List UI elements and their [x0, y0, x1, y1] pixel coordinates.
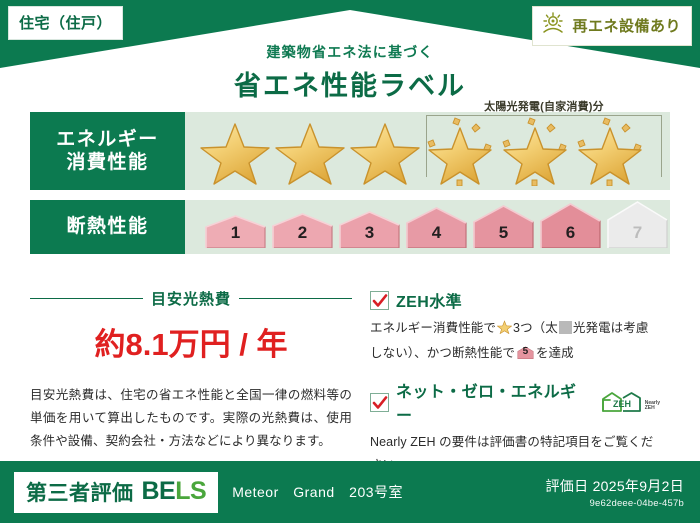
insulation-scale: 1 2 3 [185, 200, 670, 254]
insulation-level-house: 5 [471, 204, 536, 248]
insulation-level-number: 5 [471, 223, 536, 243]
utility-cost-value: 約8.1万円 / 年 [30, 319, 352, 364]
solar-sun-icon [541, 12, 565, 39]
page-title: 省エネ性能ラベル [0, 64, 700, 103]
lower-content: 目安光熱費 約8.1万円 / 年 目安光熱費は、住宅の省エネ性能と全国一律の燃料… [30, 288, 670, 490]
renewable-equipment-badge: 再エネ設備あり [532, 6, 692, 46]
bels-text-part2: LS [175, 477, 206, 505]
star-filled [274, 114, 346, 186]
zeh-standard-block: ZEH水準 エネルギー消費性能で3つ（太光発電は考慮しない）、かつ断熱性能で5を… [370, 288, 660, 364]
bels-logo: 第三者評価 BELS [14, 472, 218, 513]
zeh-body-part1: エネルギー消費性能で [370, 321, 496, 335]
inline-house-number: 5 [517, 343, 534, 361]
energy-row-label: エネルギー 消費性能 [30, 112, 185, 190]
insulation-row: 断熱性能 1 [30, 200, 670, 254]
insulation-row-body: 1 2 3 [185, 200, 670, 254]
insulation-level-number: 6 [538, 223, 603, 243]
zeh-standard-title: ZEH水準 [396, 288, 462, 312]
insulation-row-label: 断熱性能 [30, 200, 185, 254]
star-rating [185, 114, 670, 190]
insulation-level-house: 4 [404, 206, 469, 248]
star-filled [349, 114, 421, 186]
utility-cost-note: 目安光熱費は、住宅の省エネ性能と全国一律の燃料等の単価を用いて算出したものです。… [30, 384, 352, 453]
utility-cost-column: 目安光熱費 約8.1万円 / 年 目安光熱費は、住宅の省エネ性能と全国一律の燃料… [30, 288, 362, 490]
insulation-level-number: 2 [270, 223, 335, 243]
star-icon-inline [497, 323, 512, 337]
bels-english-label: BELS [142, 477, 207, 506]
star-filled-sparkle [499, 114, 571, 186]
insulation-label-line1: 断熱性能 [66, 215, 148, 238]
energy-performance-label: 住宅（住戸） 再エネ設備あり 建築物省エネ法に基づく [0, 0, 700, 523]
net-zero-energy-heading: ネット・ゼロ・エネルギー ZEH Nearly ZEH [370, 378, 660, 426]
criteria-column: ZEH水準 エネルギー消費性能で3つ（太光発電は考慮しない）、かつ断熱性能で5を… [362, 288, 660, 490]
rule-right [239, 298, 352, 299]
insulation-level-house: 6 [538, 202, 603, 248]
utility-cost-heading-label: 目安光熱費 [151, 288, 231, 309]
zeh-standard-heading: ZEH水準 [370, 288, 660, 312]
zeh-standard-body: エネルギー消費性能で3つ（太光発電は考慮しない）、かつ断熱性能で5を達成 [370, 317, 660, 364]
bels-japanese-label: 第三者評価 [26, 477, 134, 507]
net-zero-energy-title: ネット・ゼロ・エネルギー [396, 378, 588, 426]
star-filled-sparkle [424, 114, 496, 186]
insulation-level-house: 2 [270, 212, 335, 248]
zeh-house-logo: ZEH Nearly ZEH [600, 391, 660, 413]
insulation-level-house-inactive: 7 [605, 200, 670, 248]
zeh-logo-subtext: Nearly ZEH [645, 401, 660, 414]
insulation-level-icon-inline: 5 [517, 344, 534, 361]
insulation-level-number: 3 [337, 223, 402, 243]
housing-type-tag: 住宅（住戸） [8, 6, 123, 40]
star-filled-sparkle [574, 114, 646, 186]
energy-consumption-row: エネルギー 消費性能 太陽光発電(自家消費)分 [30, 112, 670, 190]
insulation-level-house: 1 [203, 214, 268, 248]
zeh-body-part4: を達成 [536, 346, 574, 360]
energy-row-body: 太陽光発電(自家消費)分 [185, 112, 670, 190]
label-title-block: 建築物省エネ法に基づく 省エネ性能ラベル [0, 42, 700, 103]
energy-label-line2: 消費性能 [66, 151, 148, 174]
insulation-level-number: 4 [404, 223, 469, 243]
renewable-badge-label: 再エネ設備あり [572, 15, 681, 36]
zeh-logo-sub-line2: ZEH [645, 405, 655, 411]
svg-text:ZEH: ZEH [613, 399, 631, 409]
evaluation-date: 評価日 2025年9月2日 [545, 476, 684, 496]
utility-cost-heading: 目安光熱費 [30, 288, 352, 309]
star-filled [199, 114, 271, 186]
bels-text-part1: BE [142, 477, 176, 505]
zeh-body-star-count: 3つ [513, 321, 533, 335]
evaluation-id: 9e62deee-04be-457b [545, 498, 684, 509]
redaction-block [559, 321, 572, 334]
checkmark-icon [370, 393, 389, 412]
rule-left [30, 298, 143, 299]
zeh-body-part2: （太 [533, 321, 558, 335]
footer-meta: 評価日 2025年9月2日 9e62deee-04be-457b [545, 476, 684, 509]
energy-label-line1: エネルギー [56, 128, 159, 151]
insulation-level-house: 3 [337, 210, 402, 248]
metrics-container: エネルギー 消費性能 太陽光発電(自家消費)分 [30, 112, 670, 254]
checkmark-icon [370, 291, 389, 310]
insulation-level-number: 7 [605, 223, 670, 243]
insulation-level-number: 1 [203, 223, 268, 243]
property-name: Meteor Grand 203号室 [232, 482, 403, 502]
footer-bar: 第三者評価 BELS Meteor Grand 203号室 評価日 2025年9… [0, 461, 700, 523]
